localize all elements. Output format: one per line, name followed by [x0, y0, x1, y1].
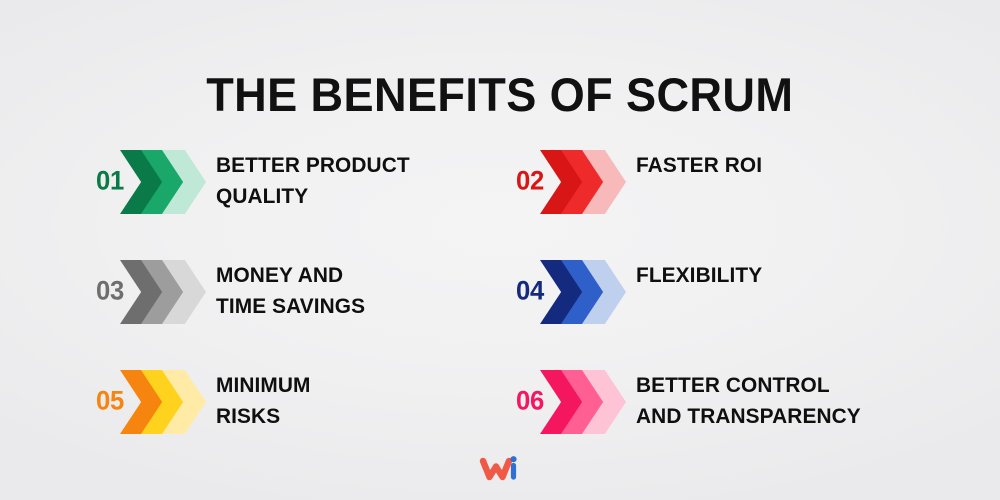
benefit-label-line: FASTER ROI: [636, 150, 762, 181]
benefit-number: 04: [516, 278, 544, 305]
benefit-badge: 06: [516, 364, 632, 438]
benefit-item[interactable]: 06BETTER CONTROLAND TRANSPARENCY: [516, 360, 936, 470]
chevron-icon: [540, 260, 632, 324]
benefit-label-line: MONEY AND: [216, 260, 365, 291]
benefit-badge: 03: [96, 254, 212, 328]
benefit-label: FASTER ROI: [636, 150, 762, 181]
brand-logo: [477, 452, 523, 486]
benefit-label-line: MINIMUM: [216, 370, 311, 401]
chevron-icon: [120, 260, 212, 324]
benefit-badge: 04: [516, 254, 632, 328]
chevron-icon: [120, 150, 212, 214]
benefit-item[interactable]: 04FLEXIBILITY: [516, 250, 936, 360]
benefit-item[interactable]: 01BETTER PRODUCTQUALITY: [96, 140, 486, 250]
benefit-label: BETTER CONTROLAND TRANSPARENCY: [636, 370, 861, 431]
benefit-badge: 02: [516, 144, 632, 218]
benefit-number: 02: [516, 168, 544, 195]
benefit-label-line: RISKS: [216, 401, 311, 432]
infographic-canvas: THE BENEFITS OF SCRUM 01BETTER PRODUCTQU…: [0, 0, 1000, 500]
title-container: THE BENEFITS OF SCRUM: [0, 40, 1000, 150]
benefit-number: 01: [96, 168, 124, 195]
benefit-label-line: BETTER PRODUCT: [216, 150, 410, 181]
benefit-number: 05: [96, 388, 124, 415]
benefit-label-line: QUALITY: [216, 181, 410, 212]
benefit-label: MONEY ANDTIME SAVINGS: [216, 260, 365, 321]
benefit-label: FLEXIBILITY: [636, 260, 762, 291]
page-title: THE BENEFITS OF SCRUM: [206, 71, 793, 118]
benefit-label-line: BETTER CONTROL: [636, 370, 861, 401]
benefit-badge: 05: [96, 364, 212, 438]
benefit-badge: 01: [96, 144, 212, 218]
chevron-icon: [540, 370, 632, 434]
benefit-label-line: TIME SAVINGS: [216, 291, 365, 322]
benefit-label: MINIMUMRISKS: [216, 370, 311, 431]
chevron-icon: [540, 150, 632, 214]
benefit-item[interactable]: 05MINIMUMRISKS: [96, 360, 486, 470]
benefit-number: 06: [516, 388, 544, 415]
benefit-item[interactable]: 03MONEY ANDTIME SAVINGS: [96, 250, 486, 360]
benefit-item[interactable]: 02FASTER ROI: [516, 140, 936, 250]
benefits-grid: 01BETTER PRODUCTQUALITY02FASTER ROI03MON…: [96, 140, 936, 470]
benefit-number: 03: [96, 278, 124, 305]
benefit-label-line: AND TRANSPARENCY: [636, 401, 861, 432]
chevron-icon: [120, 370, 212, 434]
benefit-label: BETTER PRODUCTQUALITY: [216, 150, 410, 211]
benefit-label-line: FLEXIBILITY: [636, 260, 762, 291]
